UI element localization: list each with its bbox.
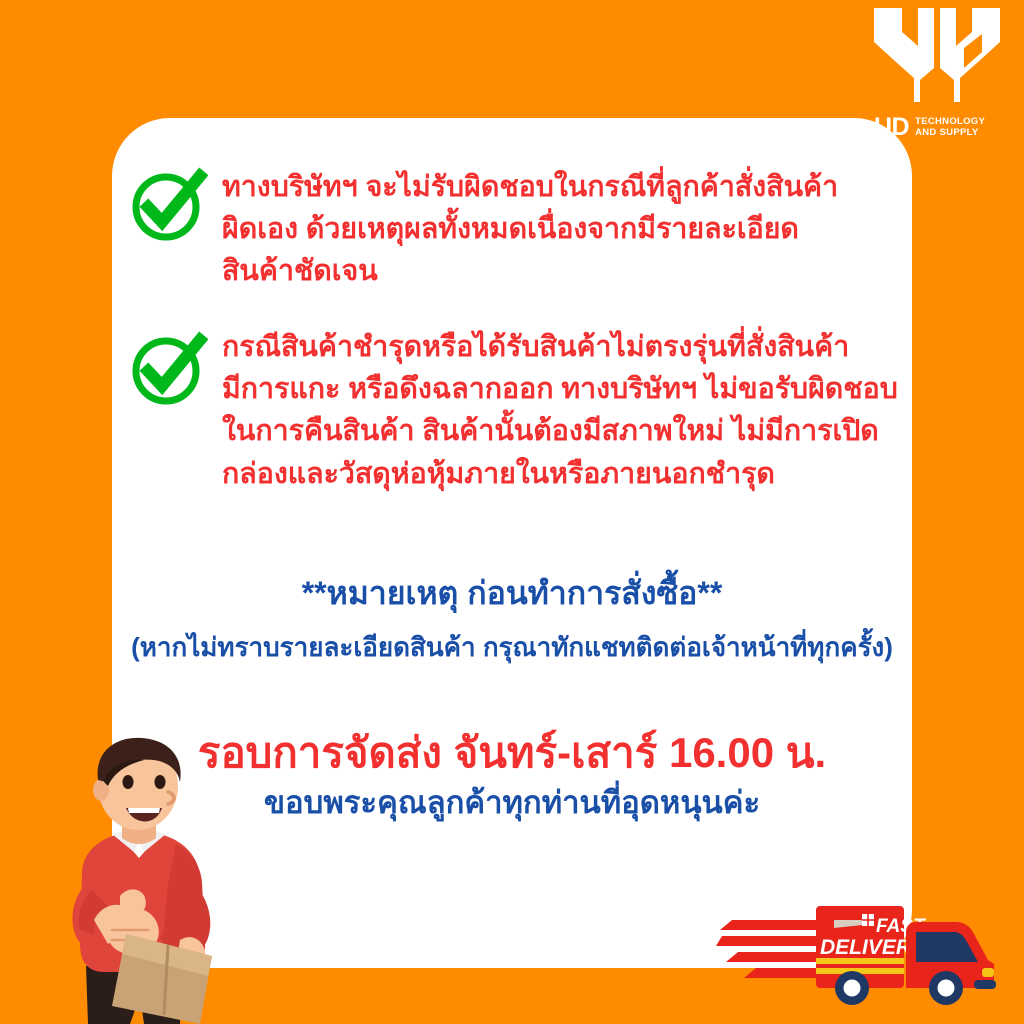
policy-bullet-1-text: ทางบริษัทฯ จะไม่รับผิดชอบในกรณีที่ลูกค้า… xyxy=(222,166,838,293)
delivery-man-thumbs-up-illustration xyxy=(8,734,248,1024)
bullet-1-line-2: ผิดเอง ด้วยเหตุผลทั้งหมดเนื่องจากมีรายละ… xyxy=(222,208,838,250)
brand-letters: UD xyxy=(874,115,909,140)
fast-delivery-truck-illustration: FAST DELIVERY xyxy=(716,888,1016,1008)
bullet-1-line-3: สินค้าชัดเจน xyxy=(222,250,838,292)
bullet-2-line-1: กรณีสินค้าชำรุดหรือได้รับสินค้าไม่ตรงรุ่… xyxy=(222,326,898,368)
brand-logo: UD TECHNOLOGY AND SUPPLY xyxy=(866,6,1006,146)
bullet-2-line-2: มีการแกะ หรือดึงฉลากออก ทางบริษัทฯ ไม่ขอ… xyxy=(222,368,898,410)
note-block: **หมายเหตุ ก่อนทำการสั่งซื้อ** (หากไม่ทร… xyxy=(112,573,912,664)
bullet-2-line-3: ในการคืนสินค้า สินค้านั้นต้องมีสภาพใหม่ … xyxy=(222,410,898,452)
note-subtext: (หากไม่ทราบรายละเอียดสินค้า กรุณาทักแชทต… xyxy=(112,631,912,664)
policy-bullet-2: กรณีสินค้าชำรุดหรือได้รับสินค้าไม่ตรงรุ่… xyxy=(130,326,900,495)
brand-tagline: TECHNOLOGY AND SUPPLY xyxy=(915,117,985,138)
green-check-circle-icon xyxy=(130,330,208,408)
bullet-2-line-4: กล่องและวัสดุห่อหุ้มภายในหรือภายนอกชำรุด xyxy=(222,453,898,495)
policy-bullet-2-text: กรณีสินค้าชำรุดหรือได้รับสินค้าไม่ตรงรุ่… xyxy=(222,326,898,495)
brand-wordmark: UD TECHNOLOGY AND SUPPLY xyxy=(874,115,985,140)
green-check-circle-icon xyxy=(130,166,208,244)
brand-tagline-line2: AND SUPPLY xyxy=(915,127,978,138)
promo-poster: UD TECHNOLOGY AND SUPPLY ทางบริษัทฯ จะไม… xyxy=(0,0,1024,1024)
bullet-1-line-1: ทางบริษัทฯ จะไม่รับผิดชอบในกรณีที่ลูกค้า… xyxy=(222,166,838,208)
policy-bullet-1: ทางบริษัทฯ จะไม่รับผิดชอบในกรณีที่ลูกค้า… xyxy=(130,166,890,293)
note-heading: **หมายเหตุ ก่อนทำการสั่งซื้อ** xyxy=(112,573,912,613)
ud-shield-logo-icon xyxy=(872,6,1002,102)
brand-tagline-line1: TECHNOLOGY xyxy=(915,116,985,127)
